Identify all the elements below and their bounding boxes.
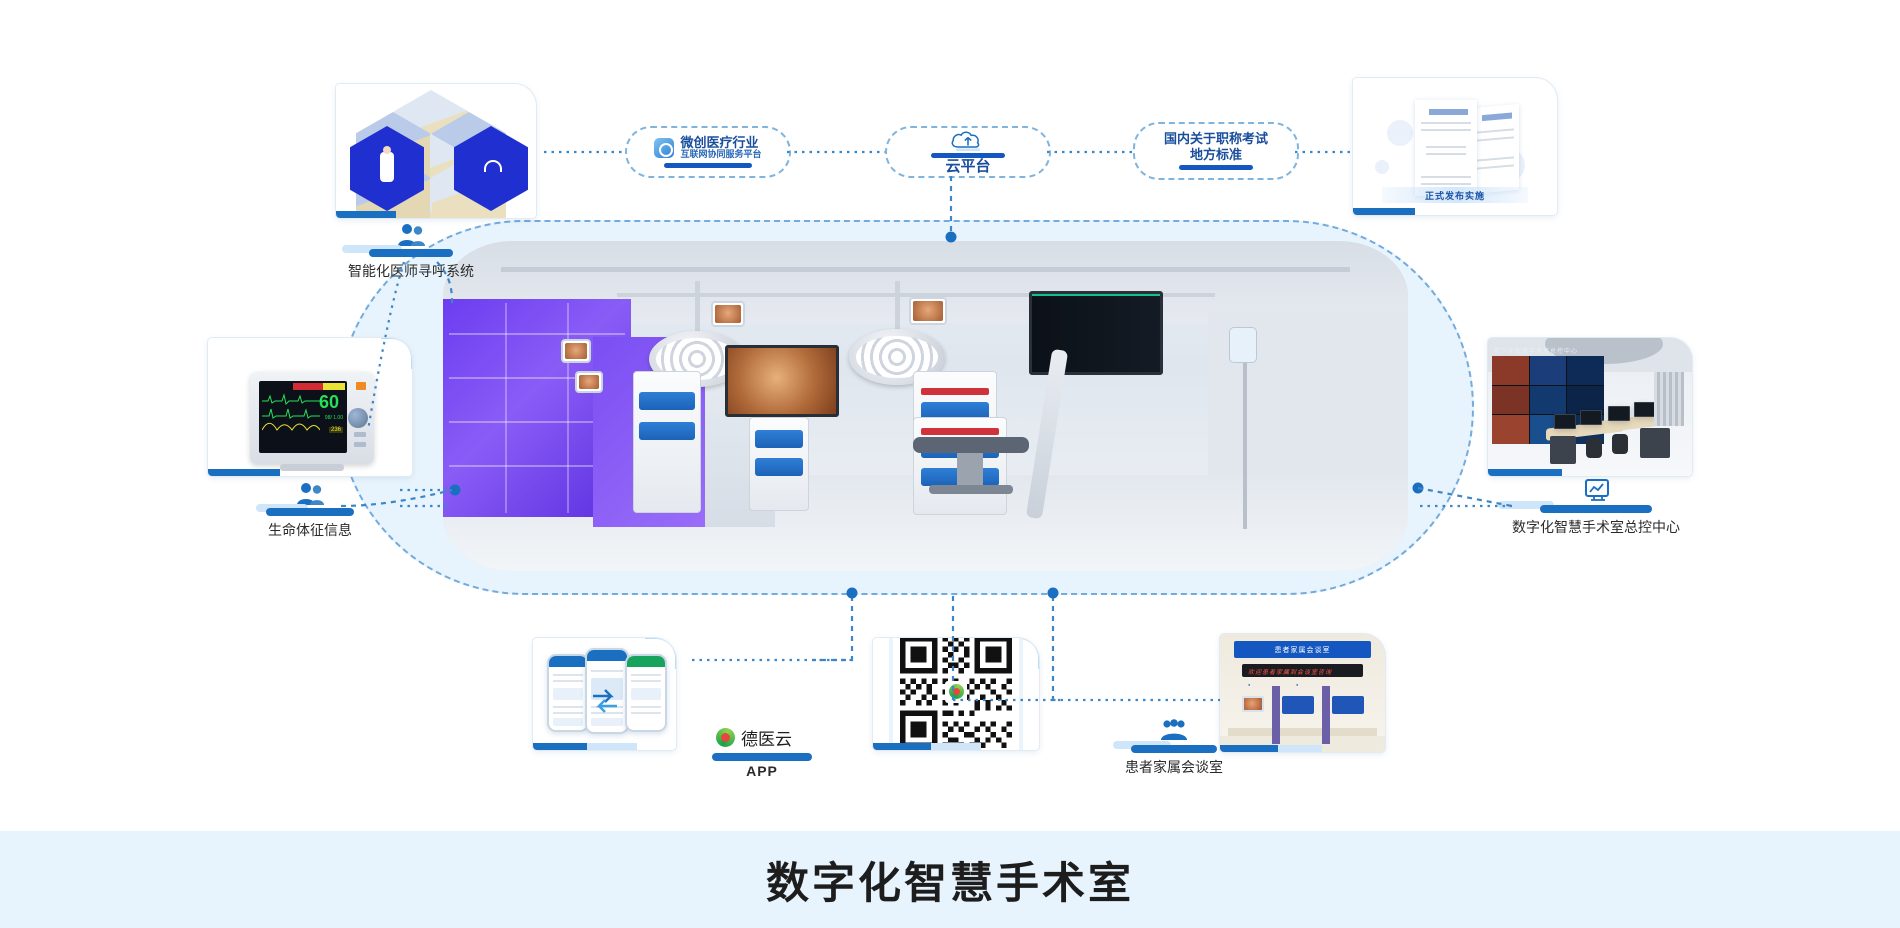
meeting-room-sign-label: 患者家属会谈室: [1275, 645, 1331, 655]
document-illustration: 正式发布实施: [1353, 78, 1557, 215]
card-mobile-app-screens: [533, 638, 676, 750]
badge-cloud-platform[interactable]: 云平台: [885, 126, 1051, 178]
meeting-room-pillar-1: [1272, 686, 1280, 744]
cc-desk-base-1: [1550, 436, 1576, 464]
or-endoscope-display-2: [909, 297, 947, 325]
card-family-meeting-room-photo: 患者家属会谈室 欢迎患者家属到会谈室咨询 ● ●: [1220, 634, 1385, 752]
node-label: 数字化智慧手术室总控中心: [1512, 517, 1680, 537]
meeting-room-kiosk-2: [1332, 696, 1364, 714]
pleth-wave: [262, 421, 320, 433]
monitor-hr-value: 60: [314, 391, 344, 413]
monitor-knob: [348, 408, 368, 428]
node-vital-signs[interactable]: 生命体征信息: [266, 481, 354, 540]
badge-title: 国内关于职称考试: [1164, 132, 1268, 147]
card-corner-glow: [381, 338, 412, 369]
app-logo-icon: [654, 138, 674, 158]
cc-desk-monitor-3: [1608, 406, 1630, 421]
or-endoscope-display-1: [711, 301, 745, 327]
cc-chair-1: [1586, 438, 1602, 458]
card-accent-bar: [1488, 469, 1562, 476]
phone-screen-right: [625, 654, 667, 732]
or-cart-left: [633, 371, 701, 513]
card-smart-ward-illustration: [336, 84, 536, 218]
cc-desk-monitor-2: [1580, 410, 1602, 425]
isometric-ward-illustration: [336, 84, 536, 218]
badge-underline: [664, 163, 752, 168]
cc-wall-title: 数字化智慧手术室总控中心: [1494, 346, 1578, 355]
document-back: [1471, 104, 1519, 194]
badge-title: 云平台: [945, 159, 990, 176]
card-accent-bar: [873, 743, 931, 750]
cc-desk-base-2: [1640, 428, 1670, 458]
cc-window-blinds: [1654, 372, 1684, 426]
or-main-display: [725, 345, 839, 417]
or-cart-center: [749, 417, 809, 511]
exchange-arrows-icon: [589, 684, 621, 716]
badge-underline: [1179, 165, 1253, 170]
card-accent-bar: [208, 469, 280, 476]
node-pager-system[interactable]: 智能化医师寻呼系统: [348, 222, 474, 281]
or-iv-bag: [1229, 327, 1257, 363]
badge-subtitle: 互联网协同服务平台: [680, 150, 761, 160]
qr-center-logo-icon: [945, 681, 967, 703]
monitor-chart-icon: [1579, 478, 1613, 504]
node-family-meeting-room[interactable]: 患者家属会谈室: [1125, 718, 1223, 777]
document-release-ribbon: 正式发布实施: [1382, 187, 1529, 203]
qr-code-frame: [893, 638, 1019, 750]
monitor-sub-value-1: 98/ 1.00: [325, 415, 343, 421]
card-accent-bar: [1353, 208, 1415, 215]
card-accent-bar-light: [931, 743, 981, 750]
node-label: 患者家属会谈室: [1125, 757, 1223, 777]
card-accent-bar-light: [587, 743, 637, 750]
badge-local-standard[interactable]: 国内关于职称考试 地方标准: [1133, 122, 1299, 180]
card-accent-bar-light: [1278, 745, 1322, 752]
page-title: 数字化智慧手术室: [766, 849, 1134, 911]
badge-microinvasive-platform[interactable]: 微创医疗行业 互联网协同服务平台: [625, 126, 791, 178]
deyiyun-mark-icon: [716, 728, 735, 747]
two-people-icon: [394, 222, 428, 248]
meeting-room-led-text: 欢迎患者家属到会谈室咨询: [1248, 667, 1332, 676]
card-control-center-room: 数字化智慧手术室总控中心: [1488, 338, 1692, 476]
node-label: 智能化医师寻呼系统: [348, 261, 474, 281]
card-standard-document: 正式发布实施: [1353, 78, 1557, 215]
cc-desk-monitor-4: [1634, 402, 1656, 417]
card-accent-bar: [1220, 745, 1278, 752]
meeting-room-wall-icon-1: ●: [1248, 682, 1250, 687]
meeting-room-counter: [1228, 728, 1377, 736]
deyiyun-logo[interactable]: 德医云: [716, 725, 792, 750]
meeting-room-wall-icon-2: ●: [1296, 682, 1298, 687]
card-qr-code: [873, 638, 1039, 750]
or-operating-table: [913, 437, 1029, 495]
badge-subtitle: 地方标准: [1190, 148, 1242, 163]
control-center-photo: 数字化智慧手术室总控中心: [1488, 338, 1692, 476]
document-release-label: 正式发布实施: [1425, 189, 1485, 202]
or-light-arm-right: [895, 281, 900, 333]
card-accent-bar: [336, 211, 396, 218]
node-label: APP: [746, 763, 778, 779]
node-app[interactable]: APP: [712, 752, 812, 779]
meeting-room-wall-picture: [1242, 696, 1264, 712]
meeting-room-led-display: 欢迎患者家属到会谈室咨询: [1242, 664, 1363, 677]
operating-room-photo: [443, 241, 1408, 571]
or-endoscope-display-3: [561, 339, 591, 363]
meeting-room-kiosk-1: [1282, 696, 1314, 714]
footer-title-band: 数字化智慧手术室: [0, 831, 1900, 928]
card-accent-bar: [533, 743, 587, 750]
or-endoscope-display-4: [575, 371, 603, 393]
meeting-room-sign: 患者家属会谈室: [1234, 641, 1371, 658]
diagram-canvas: 正式发布实施 60 98/ 1.00 236: [0, 0, 1900, 928]
phone-screen-left: [547, 654, 589, 732]
node-label: 生命体征信息: [268, 520, 352, 540]
meeting-room-pillar-2: [1322, 686, 1330, 744]
card-patient-monitor: 60 98/ 1.00 236: [208, 338, 412, 476]
deyiyun-logo-text: 德医云: [741, 725, 792, 750]
patient-monitor-device: 60 98/ 1.00 236: [250, 372, 374, 464]
meeting-room-photo: 患者家属会谈室 欢迎患者家属到会谈室咨询 ● ●: [1220, 634, 1385, 752]
monitor-screen: 60 98/ 1.00 236: [259, 381, 347, 453]
cc-desk-monitor-1: [1554, 414, 1576, 429]
node-control-center[interactable]: 数字化智慧手术室总控中心: [1512, 478, 1680, 537]
cc-chair-2: [1612, 434, 1628, 454]
ecg-wave-2: [262, 407, 320, 419]
monitor-sub-value-2: 236: [329, 427, 343, 433]
ecg-wave-1: [262, 393, 320, 405]
document-front: [1415, 100, 1477, 196]
cloud-upload-icon: [948, 128, 988, 152]
or-light-arm-left: [695, 281, 700, 335]
